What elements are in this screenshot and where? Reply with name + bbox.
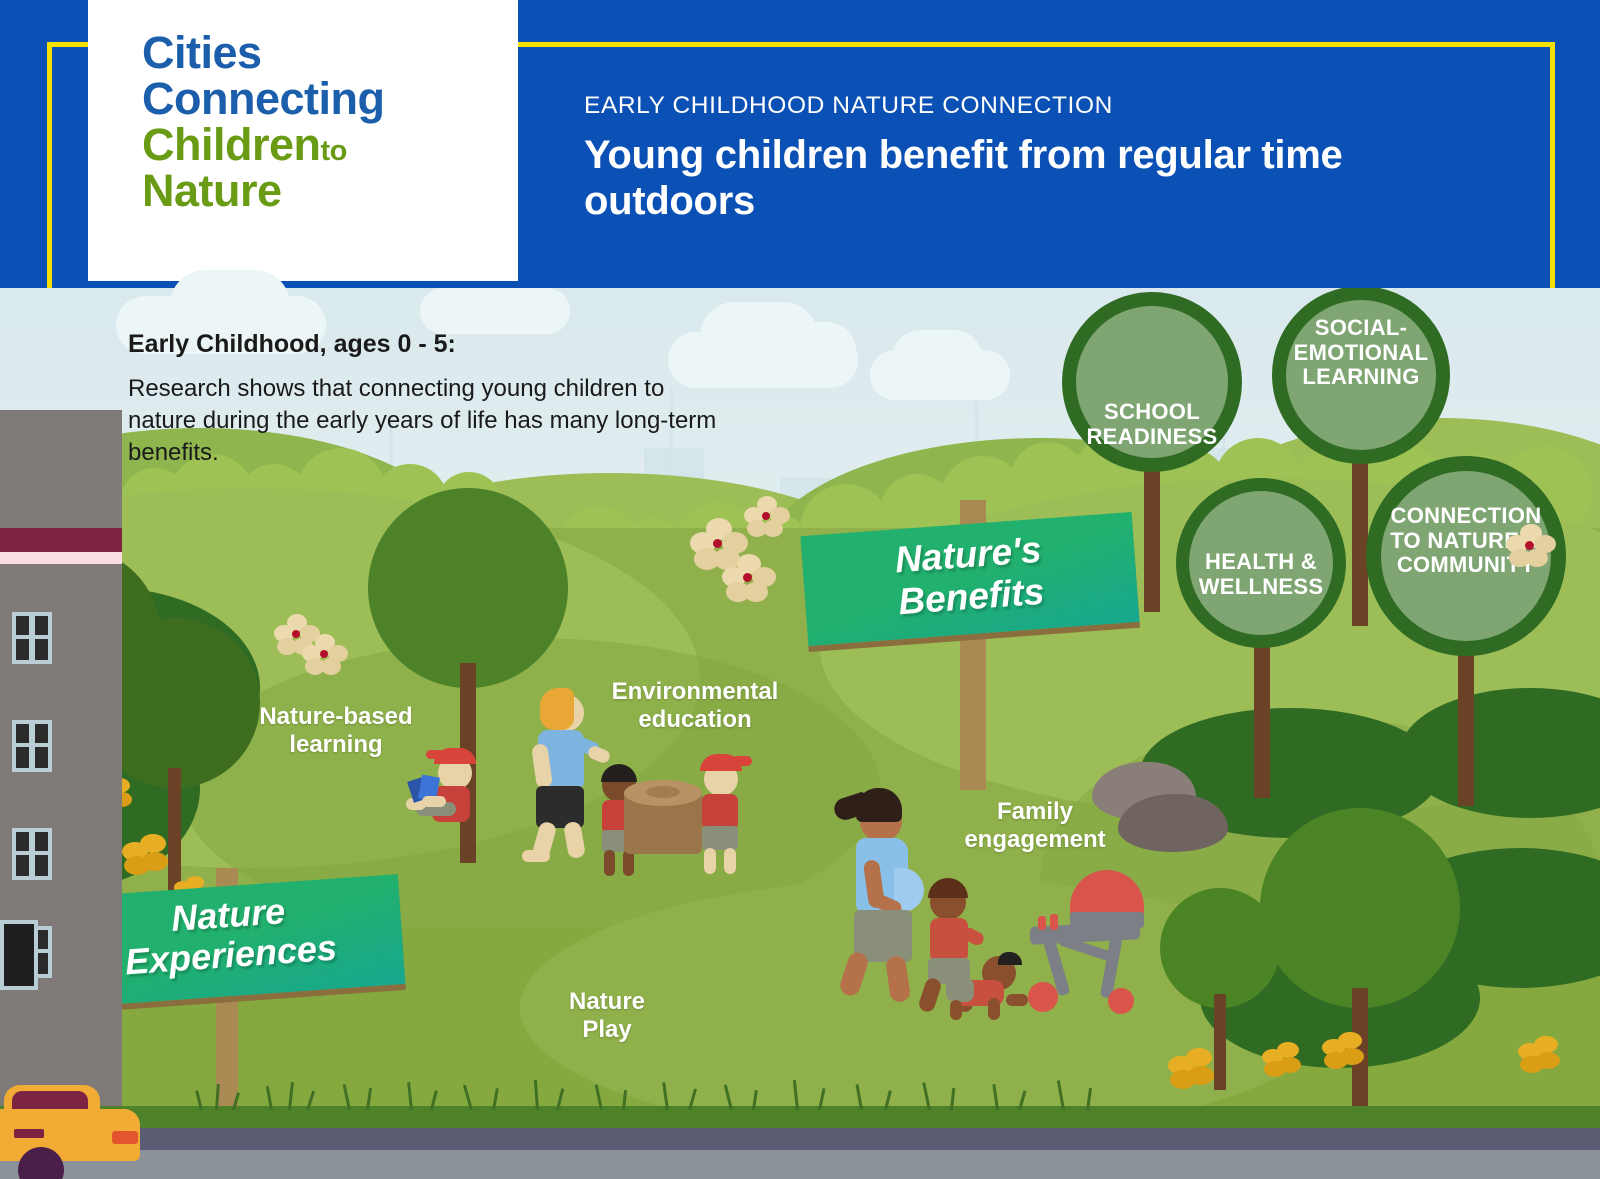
logo-line-4: Nature [142, 168, 512, 214]
benefit-tree-health-wellness[interactable]: HEALTH & WELLNESS [1176, 478, 1346, 798]
logo-line-1: Cities [142, 30, 512, 76]
road [0, 1150, 1600, 1179]
child-running [514, 686, 604, 846]
benefit-tree-label: SOCIAL- EMOTIONAL LEARNING [1276, 316, 1446, 390]
intro-text-block: Early Childhood, ages 0 - 5: Research sh… [128, 330, 728, 469]
header-text-block: EARLY CHILDHOOD NATURE CONNECTION Young … [584, 92, 1504, 225]
scene-label-family-engagement: Family engagement [930, 798, 1140, 854]
stump-rings [646, 786, 680, 798]
logo-line-3-main: Children [142, 119, 321, 170]
grass-strip [0, 1106, 1600, 1128]
scene-label-nature-play: Nature Play [532, 988, 682, 1044]
intro-heading: Early Childhood, ages 0 - 5: [128, 330, 728, 359]
logo-line-2: Connecting [142, 76, 512, 122]
stroller [1024, 870, 1144, 1010]
benefit-tree-label: SCHOOL READINESS [1068, 400, 1236, 449]
taxi-cab [0, 1085, 140, 1179]
logo-plate: Cities Connecting Childrento Nature [88, 0, 518, 281]
sign-natures-benefits[interactable]: Nature's Benefits [800, 500, 1150, 790]
building-window [12, 720, 52, 772]
logo-line-3: Childrento [142, 122, 512, 168]
benefit-tree-label: HEALTH & WELLNESS [1178, 550, 1344, 599]
building-window [12, 828, 52, 880]
toddler-crawling [944, 956, 1030, 1022]
child-reading [408, 740, 498, 830]
header-eyebrow: EARLY CHILDHOOD NATURE CONNECTION [584, 92, 1504, 120]
building-window [12, 612, 52, 664]
benefit-tree-connection-nature-community[interactable]: CONNECTION TO NATURE & COMMUNITY [1366, 456, 1566, 786]
logo-wordmark: Cities Connecting Childrento Nature [142, 30, 512, 214]
building-band [0, 528, 122, 552]
scene-label-environmental-education: Environmental education [580, 678, 810, 734]
road-curb [0, 1128, 1600, 1150]
building-band-light [0, 552, 122, 564]
intro-body: Research shows that connecting young chi… [128, 373, 728, 469]
infographic-canvas: Cities Connecting Childrento Nature EARL… [0, 0, 1600, 1179]
logo-line-3-suffix: to [321, 135, 347, 167]
header-banner: Cities Connecting Childrento Nature EARL… [0, 0, 1600, 288]
building-door [0, 920, 38, 990]
header-headline: Young children benefit from regular time… [584, 132, 1504, 225]
